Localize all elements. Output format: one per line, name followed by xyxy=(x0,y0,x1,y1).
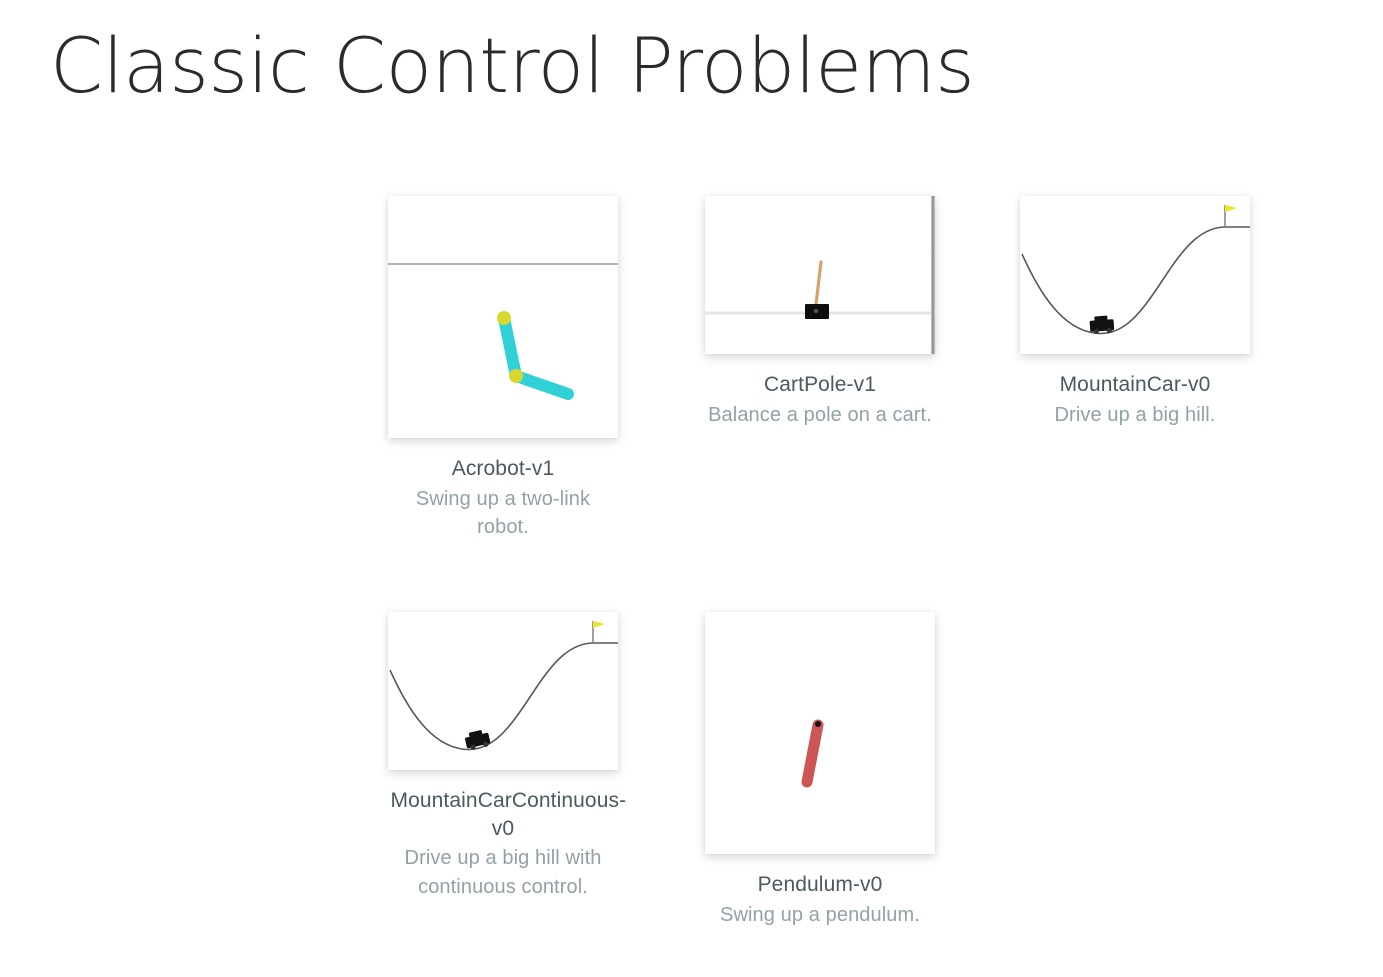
mountaincar-scene xyxy=(1020,196,1250,354)
cartpole-name: CartPole-v1 xyxy=(708,371,933,399)
cartpole-caption: CartPole-v1 Balance a pole on a cart. xyxy=(708,371,933,429)
env-card-mountaincarcontinuous[interactable]: MountainCarContinuous-v0 Drive up a big … xyxy=(388,612,618,902)
mountaincarcontinuous-caption: MountainCarContinuous-v0 Drive up a big … xyxy=(391,787,616,902)
mountaincar-description: Drive up a big hill. xyxy=(1023,401,1248,430)
pendulum-thumbnail[interactable] xyxy=(705,612,935,854)
pendulum-pivot xyxy=(815,721,821,727)
cartpole-description: Balance a pole on a cart. xyxy=(708,401,933,430)
acrobot-joint-mid xyxy=(509,369,523,383)
acrobot-thumbnail[interactable] xyxy=(388,196,618,438)
acrobot-scene xyxy=(388,196,618,438)
cartpole-scene xyxy=(705,196,935,354)
acrobot-joint-top xyxy=(497,311,511,325)
mountaincar-name: MountainCar-v0 xyxy=(1023,371,1248,399)
cartpole-edge-bar xyxy=(931,196,935,354)
env-card-cartpole[interactable]: CartPole-v1 Balance a pole on a cart. xyxy=(705,196,935,429)
pendulum-scene xyxy=(705,612,935,854)
env-card-acrobot[interactable]: Acrobot-v1 Swing up a two-link robot. xyxy=(388,196,618,542)
mountaincarcontinuous-description: Drive up a big hill with continuous cont… xyxy=(391,844,616,901)
pendulum-name: Pendulum-v0 xyxy=(708,871,933,899)
cartpole-axle xyxy=(814,309,818,313)
env-card-mountaincar[interactable]: MountainCar-v0 Drive up a big hill. xyxy=(1020,196,1250,429)
page-title: Classic Control Problems xyxy=(50,24,974,108)
acrobot-caption: Acrobot-v1 Swing up a two-link robot. xyxy=(391,455,616,542)
acrobot-description: Swing up a two-link robot. xyxy=(391,485,616,542)
mountaincarcontinuous-name: MountainCarContinuous-v0 xyxy=(391,787,616,842)
mountaincar-caption: MountainCar-v0 Drive up a big hill. xyxy=(1023,371,1248,429)
mountaincarcontinuous-thumbnail[interactable] xyxy=(388,612,618,770)
acrobot-name: Acrobot-v1 xyxy=(391,455,616,483)
mountaincarcontinuous-scene xyxy=(388,612,618,770)
cartpole-thumbnail[interactable] xyxy=(705,196,935,354)
env-card-pendulum[interactable]: Pendulum-v0 Swing up a pendulum. xyxy=(705,612,935,929)
pendulum-description: Swing up a pendulum. xyxy=(708,901,933,930)
mountaincar-thumbnail[interactable] xyxy=(1020,196,1250,354)
pendulum-caption: Pendulum-v0 Swing up a pendulum. xyxy=(708,871,933,929)
